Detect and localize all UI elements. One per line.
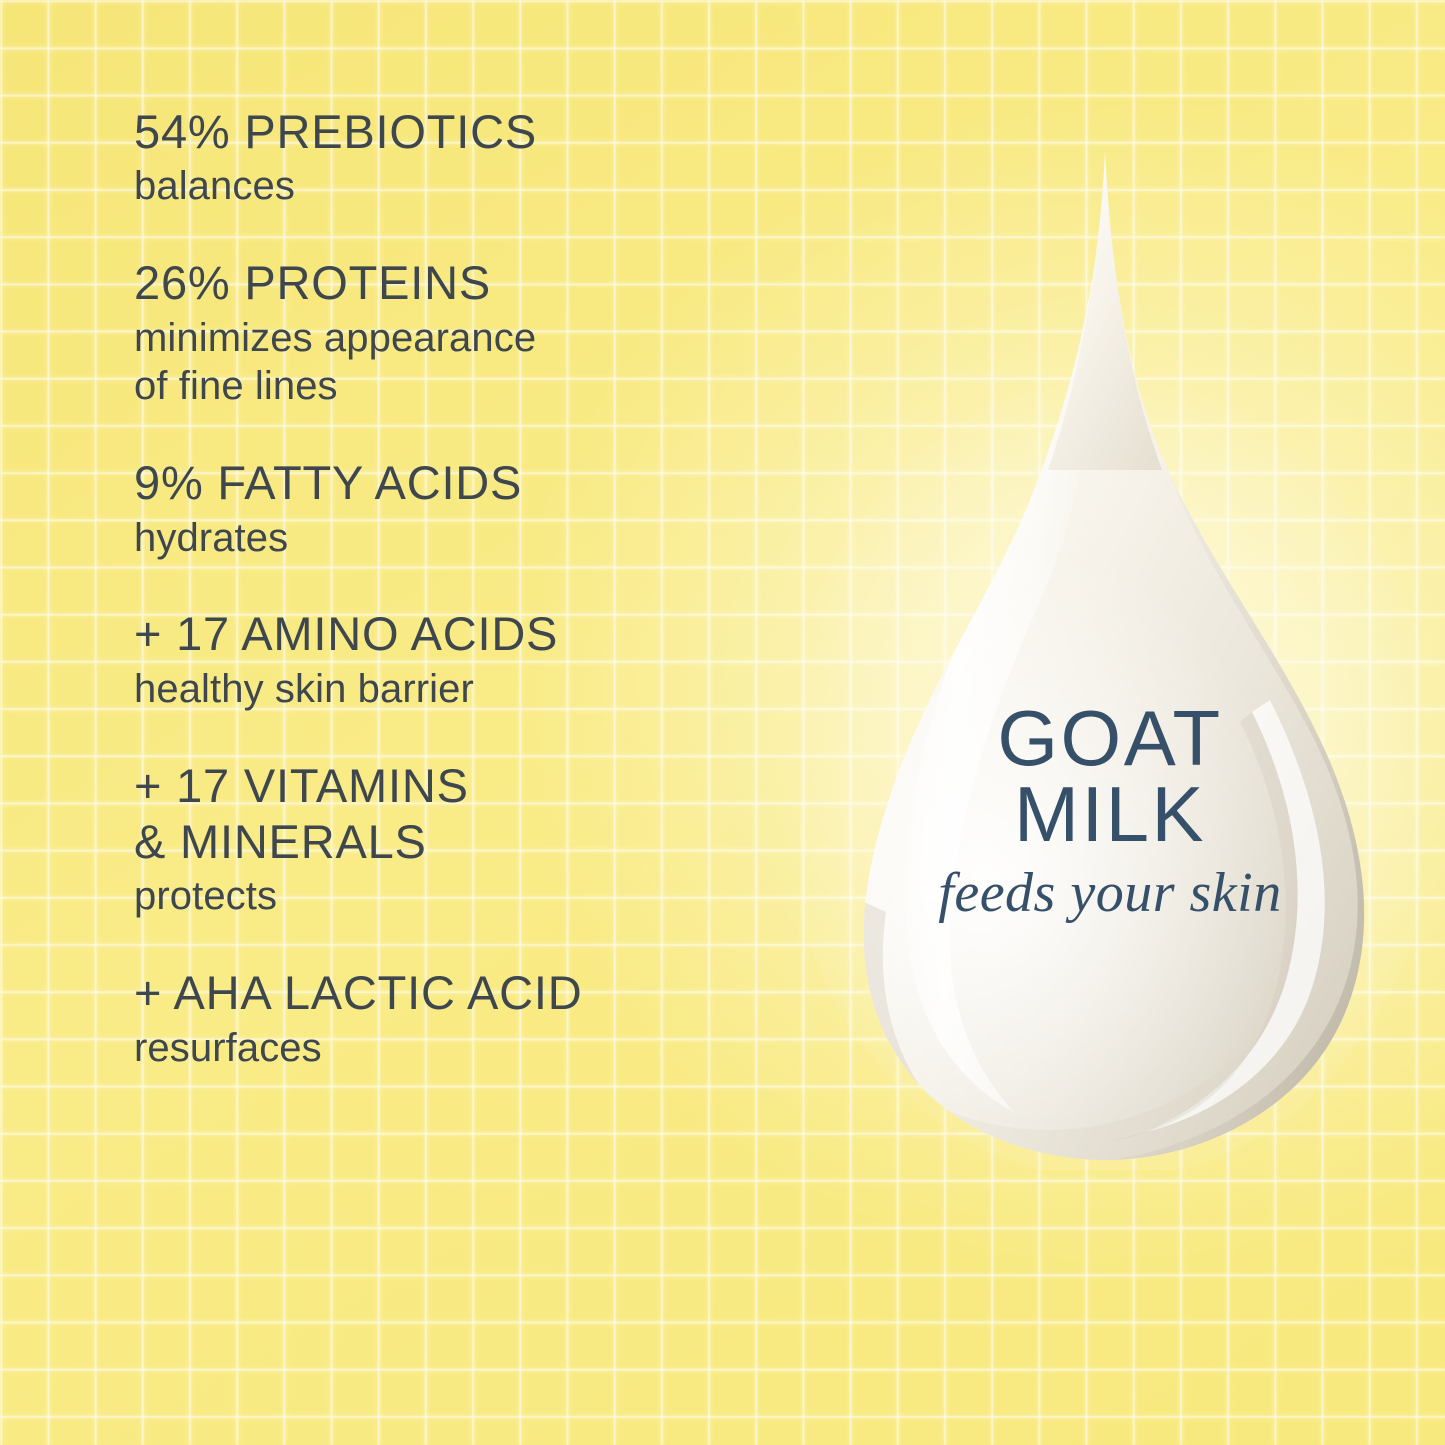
ingredient-heading: + AHA LACTIC ACID [134, 965, 824, 1021]
product-infographic: 54% PREBIOTICS balances 26% PROTEINS min… [0, 0, 1445, 1445]
ingredient-item-proteins: 26% PROTEINS minimizes appearance of fin… [134, 255, 824, 411]
droplet-tip [1048, 140, 1162, 470]
ingredient-benefit: resurfaces [134, 1024, 824, 1073]
ingredient-heading: + 17 VITAMINS & MINERALS [134, 758, 824, 871]
ingredient-list: 54% PREBIOTICS balances 26% PROTEINS min… [134, 104, 824, 1072]
ingredient-benefit: healthy skin barrier [134, 665, 824, 714]
ingredient-item-fatty-acids: 9% FATTY ACIDS hydrates [134, 455, 824, 562]
ingredient-item-amino-acids: + 17 AMINO ACIDS healthy skin barrier [134, 606, 824, 713]
ingredient-item-vitamins-minerals: + 17 VITAMINS & MINERALS protects [134, 758, 824, 922]
ingredient-benefit: balances [134, 162, 824, 211]
ingredient-item-prebiotics: 54% PREBIOTICS balances [134, 104, 824, 211]
ingredient-benefit: protects [134, 872, 824, 921]
ingredient-heading: 9% FATTY ACIDS [134, 455, 824, 511]
milk-droplet-graphic: GOAT MILK feeds your skin [800, 140, 1420, 1170]
ingredient-benefit: minimizes appearance of fine lines [134, 314, 824, 412]
milk-droplet-icon [800, 140, 1420, 1170]
ingredient-item-aha-lactic-acid: + AHA LACTIC ACID resurfaces [134, 965, 824, 1072]
ingredient-heading: 26% PROTEINS [134, 255, 824, 311]
ingredient-heading: + 17 AMINO ACIDS [134, 606, 824, 662]
ingredient-heading: 54% PREBIOTICS [134, 104, 824, 160]
ingredient-benefit: hydrates [134, 514, 824, 563]
